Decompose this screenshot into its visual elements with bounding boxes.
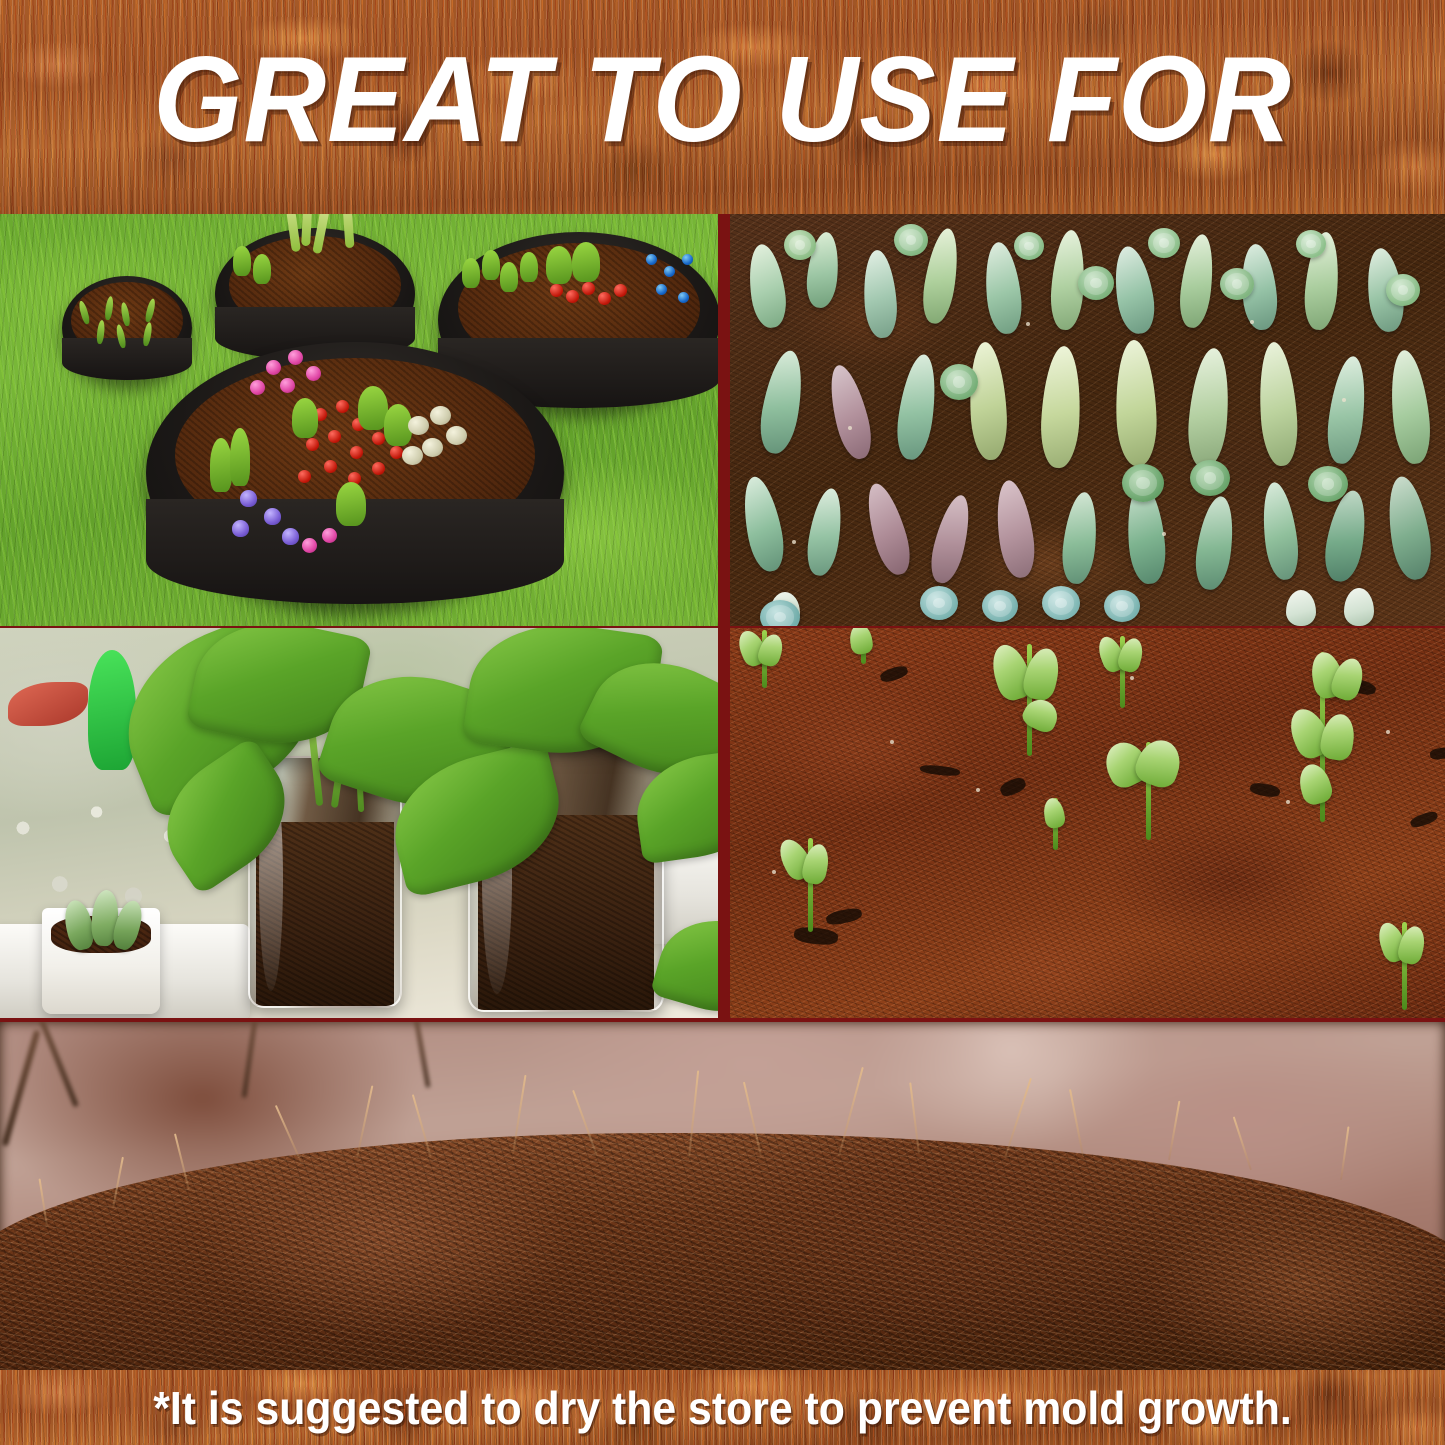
perlite-speck xyxy=(1250,320,1254,324)
succulent-rosette xyxy=(982,590,1018,622)
succulent-rosette xyxy=(1386,274,1420,306)
cauliflower xyxy=(430,406,451,425)
grid-gutter-horizontal-low xyxy=(0,1018,1445,1022)
panel-succulent-propogation: Succulent Propogation xyxy=(730,214,1445,626)
foliage xyxy=(336,482,366,526)
cauliflower xyxy=(446,426,467,445)
perlite-speck xyxy=(890,740,894,744)
raised-bed-back-middle xyxy=(215,228,415,360)
strawberry xyxy=(372,432,385,445)
footer-care-note: *It is suggested to dry the store to pre… xyxy=(51,1385,1395,1431)
seedling xyxy=(1112,742,1184,840)
succulent-leaf-cutting xyxy=(1286,590,1316,626)
strawberry xyxy=(298,470,311,483)
blueberry xyxy=(664,266,675,277)
bed-fabric-wall xyxy=(62,338,192,380)
cotyledon-leaf xyxy=(1019,694,1063,736)
succulent-rosette xyxy=(1122,464,1164,502)
strawberry xyxy=(372,462,385,475)
cauliflower xyxy=(408,416,429,435)
seedling xyxy=(1286,652,1358,822)
radish xyxy=(566,290,579,303)
perlite-speck xyxy=(1342,398,1346,402)
succulent-rosette xyxy=(784,230,816,260)
purple-flower xyxy=(232,520,249,537)
panel-garden-raised-bed: Garden Raised Bed xyxy=(0,214,718,626)
perlite-speck xyxy=(976,788,980,792)
strawberry xyxy=(306,438,319,451)
blueberry xyxy=(646,254,657,265)
garden-raised-bed-photo xyxy=(0,214,718,626)
perlite-speck xyxy=(1162,532,1166,536)
succulent-propogation-photo xyxy=(730,214,1445,626)
pink-flower xyxy=(280,378,295,393)
raised-bed-back-left xyxy=(62,276,192,380)
seedling xyxy=(848,628,878,664)
cotyledon-leaf xyxy=(1295,761,1335,808)
seedling xyxy=(996,644,1062,756)
succulent-rosette xyxy=(894,224,928,256)
purple-flower xyxy=(240,490,257,507)
cotyledon-leaf xyxy=(848,628,874,655)
cotyledon-leaf xyxy=(756,631,787,668)
potted-plants-photo xyxy=(0,628,718,1018)
blueberry xyxy=(678,292,689,303)
grid-gutter-vertical xyxy=(718,214,730,1018)
succulent-rosette xyxy=(1014,232,1044,260)
perlite-speck xyxy=(792,540,796,544)
succulent-rosette xyxy=(1308,466,1348,502)
succulent-rosette xyxy=(920,586,958,620)
strawberry xyxy=(324,460,337,473)
pink-flower xyxy=(306,366,321,381)
purple-flower xyxy=(264,508,281,525)
lettuce-leaf xyxy=(500,262,518,292)
seed-seedlings-photo xyxy=(730,628,1445,1018)
panel-potted-plants: Potted Plants xyxy=(0,628,718,1018)
cotyledon-leaf xyxy=(800,842,832,886)
lettuce-head xyxy=(572,242,600,282)
perlite-speck xyxy=(772,870,776,874)
purple-flower xyxy=(282,528,299,545)
seedling xyxy=(742,630,786,688)
perlite-speck xyxy=(848,426,852,430)
strawberry xyxy=(328,430,341,443)
cotyledon-leaf xyxy=(1131,734,1186,792)
pink-flower xyxy=(322,528,337,543)
blueberry xyxy=(682,254,693,265)
grid-gutter-horizontal-mid xyxy=(0,626,1445,628)
radish xyxy=(550,284,563,297)
succulent-rosette xyxy=(940,364,978,400)
seedling xyxy=(1042,798,1068,850)
strawberry xyxy=(390,446,403,459)
page-title: GREAT TO USE FOR xyxy=(43,38,1401,160)
succulent-rosette xyxy=(1042,586,1080,620)
green-grass-decor xyxy=(88,650,136,770)
lettuce-head xyxy=(546,246,572,284)
succulent-rosette xyxy=(1078,266,1114,300)
cauliflower xyxy=(422,438,443,457)
succulent-rosette xyxy=(1220,268,1254,300)
perlite-speck xyxy=(1386,730,1390,734)
radish xyxy=(598,292,611,305)
pink-flower xyxy=(302,538,317,553)
lettuce-leaf xyxy=(520,252,538,282)
blueberry xyxy=(656,284,667,295)
radish xyxy=(582,282,595,295)
cotyledon-leaf xyxy=(1396,924,1428,967)
raised-bed-front-hero xyxy=(146,342,564,604)
pink-flower xyxy=(288,350,303,365)
succulent-rosette xyxy=(1190,460,1230,496)
panel-potting-mixing-soil: Potting Mixing Soil xyxy=(0,1022,1445,1370)
pink-flower xyxy=(266,360,281,375)
cauliflower xyxy=(402,446,423,465)
lettuce-leaf xyxy=(482,250,500,280)
radish xyxy=(614,284,627,297)
succulent-rosette xyxy=(1148,228,1180,258)
herb-sprig xyxy=(210,438,232,492)
pink-flower xyxy=(250,380,265,395)
succulent-rosette xyxy=(760,600,800,626)
foliage xyxy=(292,398,318,438)
perlite-speck xyxy=(1026,322,1030,326)
leafy-green xyxy=(233,246,251,276)
seedling xyxy=(786,838,834,932)
cotyledon-leaf xyxy=(1042,796,1067,829)
strawberry xyxy=(350,446,363,459)
succulent-rosette xyxy=(1104,590,1140,622)
infographic-poster: GREAT TO USE FOR xyxy=(0,0,1445,1445)
strawberry xyxy=(336,400,349,413)
herb-sprig xyxy=(230,428,250,486)
seedling xyxy=(1382,922,1426,1010)
panel-seed-seedlings: Seed Seedlings xyxy=(730,628,1445,1018)
lettuce-leaf xyxy=(462,258,480,288)
succulent-rosette xyxy=(1296,230,1326,258)
potting-mixing-soil-photo xyxy=(0,1022,1445,1370)
seedling xyxy=(1102,636,1142,708)
leafy-green xyxy=(253,254,271,284)
